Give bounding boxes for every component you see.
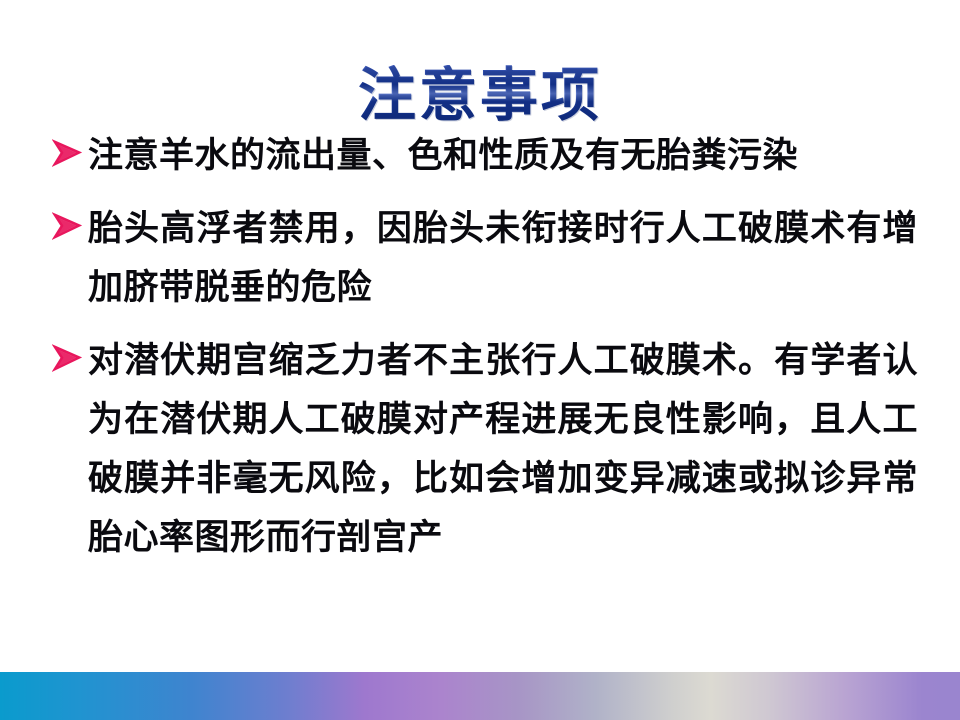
bottom-gradient-band (0, 672, 960, 720)
bullet-item: 胎头高浮者禁用，因胎头未衔接时行人工破膜术有增加脐带脱垂的危险 (52, 199, 918, 317)
bullet-item: 对潜伏期宫缩乏力者不主张行人工破膜术。有学者认为在潜伏期人工破膜对产程进展无良性… (52, 331, 918, 567)
arrow-bullet-icon (52, 331, 88, 372)
slide-body: 注意羊水的流出量、色和性质及有无胎粪污染 胎头高浮者禁用，因胎头未衔接时行人工破… (52, 126, 918, 567)
arrow-bullet-icon (52, 126, 88, 167)
bullet-text: 对潜伏期宫缩乏力者不主张行人工破膜术。有学者认为在潜伏期人工破膜对产程进展无良性… (88, 331, 918, 567)
bullet-item: 注意羊水的流出量、色和性质及有无胎粪污染 (52, 126, 918, 185)
bullet-text: 胎头高浮者禁用，因胎头未衔接时行人工破膜术有增加脐带脱垂的危险 (88, 199, 918, 317)
presentation-slide: 注意事项 注意羊水的流出量、色和性质及有无胎粪污染 胎头高浮者禁用，因胎头未衔接… (0, 0, 960, 720)
page-title: 注意事项 (358, 65, 602, 126)
arrow-bullet-icon (52, 199, 88, 240)
bullet-text: 注意羊水的流出量、色和性质及有无胎粪污染 (88, 126, 918, 185)
